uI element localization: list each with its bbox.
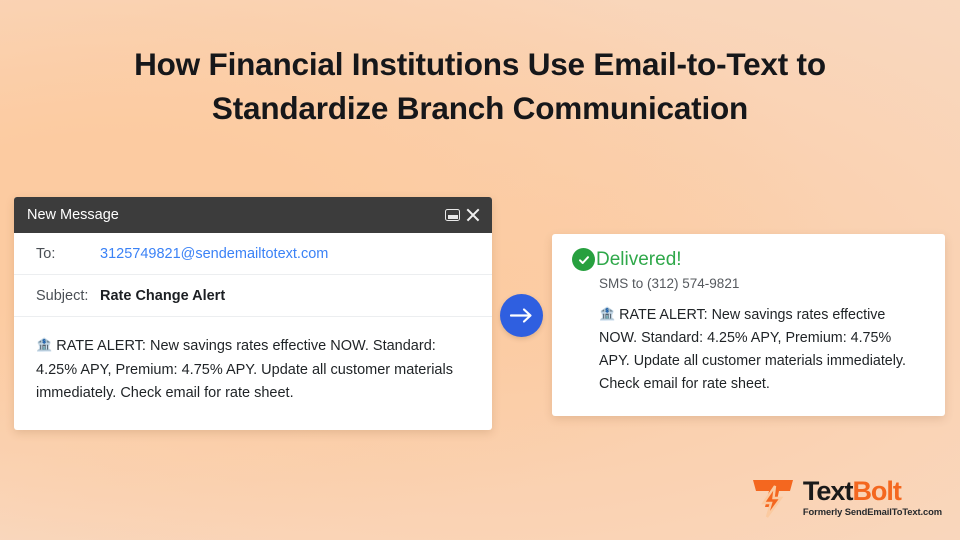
check-circle-icon bbox=[572, 248, 595, 271]
sms-body: 🏦 RATE ALERT: New savings rates effectiv… bbox=[599, 302, 925, 396]
sms-body-text: RATE ALERT: New savings rates effective … bbox=[599, 307, 906, 392]
textbolt-lightning-t-icon bbox=[750, 474, 796, 520]
to-label: To: bbox=[36, 246, 100, 262]
delivered-status-row: Delivered! bbox=[572, 248, 925, 271]
email-body[interactable]: 🏦 RATE ALERT: New savings rates effectiv… bbox=[14, 317, 492, 430]
arrow-right-button[interactable] bbox=[500, 294, 543, 337]
minimize-icon[interactable] bbox=[445, 209, 460, 221]
logo-wordmark: TextBolt bbox=[803, 477, 942, 505]
email-window-title: New Message bbox=[27, 207, 445, 223]
status-badge: Delivered! bbox=[596, 249, 682, 271]
close-icon[interactable] bbox=[465, 207, 481, 223]
sms-delivered-card: Delivered! SMS to (312) 574-9821 🏦 RATE … bbox=[552, 234, 945, 416]
logo-word-bolt: Bolt bbox=[852, 476, 900, 506]
subject-field-value[interactable]: Rate Change Alert bbox=[100, 288, 225, 304]
logo-tagline: Formerly SendEmailToText.com bbox=[803, 505, 942, 518]
email-window-titlebar: New Message bbox=[14, 197, 492, 233]
email-to-row[interactable]: To: 3125749821@sendemailtotext.com bbox=[14, 233, 492, 275]
logo-word-text: Text bbox=[803, 476, 853, 506]
window-controls bbox=[445, 207, 481, 223]
bank-icon: 🏦 bbox=[599, 306, 615, 321]
page-title: How Financial Institutions Use Email-to-… bbox=[0, 42, 960, 130]
email-compose-window: New Message To: 3125749821@sendemailtote… bbox=[14, 197, 492, 430]
logo-text-block: TextBolt Formerly SendEmailToText.com bbox=[803, 476, 942, 518]
sms-recipient: SMS to (312) 574-9821 bbox=[599, 276, 925, 291]
to-field-value[interactable]: 3125749821@sendemailtotext.com bbox=[100, 246, 328, 262]
email-subject-row[interactable]: Subject: Rate Change Alert bbox=[14, 275, 492, 317]
subject-label: Subject: bbox=[36, 288, 100, 304]
textbolt-logo[interactable]: TextBolt Formerly SendEmailToText.com bbox=[750, 474, 942, 520]
email-body-text: RATE ALERT: New savings rates effective … bbox=[36, 338, 453, 401]
bank-icon: 🏦 bbox=[36, 337, 52, 352]
arrow-right-icon bbox=[510, 307, 534, 324]
